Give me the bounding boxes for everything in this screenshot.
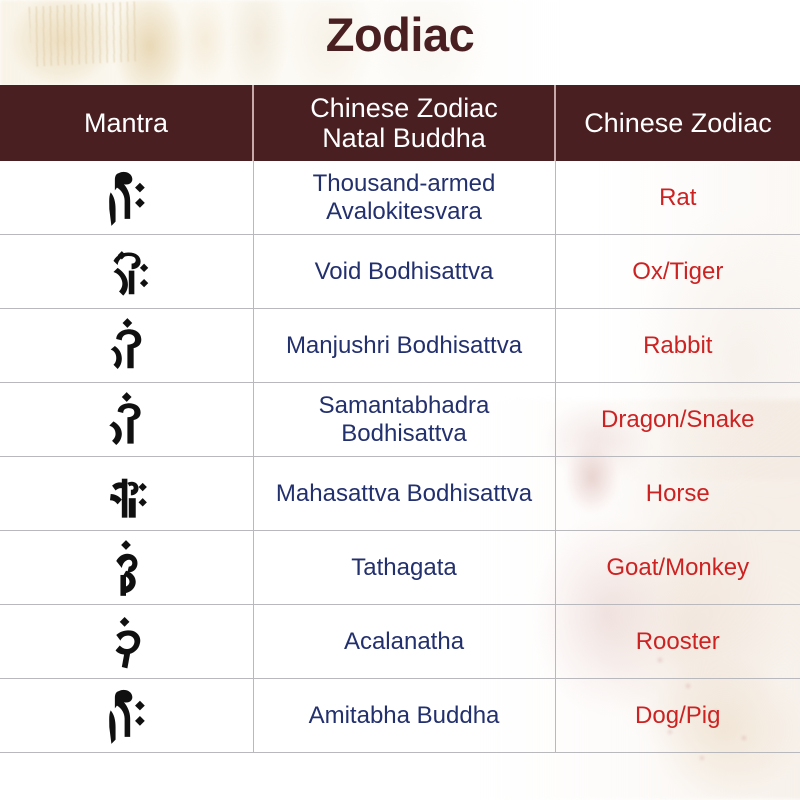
chinese-zodiac-label: Rat bbox=[659, 184, 696, 211]
column-header-chinese-zodiac: Chinese Zodiac bbox=[555, 85, 800, 161]
title-band: Zodiac bbox=[0, 0, 800, 85]
chinese-zodiac-label: Ox/Tiger bbox=[632, 258, 723, 285]
chinese-zodiac-label: Rabbit bbox=[643, 332, 712, 359]
cell-chinese-zodiac: Rat bbox=[555, 161, 800, 235]
cell-mantra bbox=[0, 457, 253, 531]
column-header-mantra-label: Mantra bbox=[84, 108, 168, 138]
siddham-am-mantra-icon bbox=[8, 388, 245, 452]
cell-natal-buddha: Amitabha Buddha bbox=[253, 679, 555, 753]
zodiac-table: Mantra Chinese Zodiac Natal Buddha Chine… bbox=[0, 85, 800, 753]
table-row: TathagataGoat/Monkey bbox=[0, 531, 800, 605]
page-title: Zodiac bbox=[0, 7, 800, 62]
natal-buddha-line1: Amitabha Buddha bbox=[309, 702, 500, 729]
column-header-chinese-zodiac-label: Chinese Zodiac bbox=[584, 108, 772, 138]
siddham-man-mantra-icon bbox=[8, 314, 245, 378]
column-header-natal-buddha-line1: Chinese Zodiac bbox=[310, 93, 498, 123]
siddham-an-mantra-icon bbox=[8, 536, 245, 600]
zodiac-infographic: Zodiac Mantra Chinese Zodiac Natal Buddh… bbox=[0, 0, 800, 800]
cell-natal-buddha: Tathagata bbox=[253, 531, 555, 605]
cell-natal-buddha: SamantabhadraBodhisattva bbox=[253, 383, 555, 457]
siddham-hrih-mantra-icon bbox=[8, 684, 245, 748]
natal-buddha-line2: Avalokitesvara bbox=[326, 198, 482, 225]
siddham-ham-mantra-icon bbox=[8, 610, 245, 674]
natal-buddha-line1: Samantabhadra bbox=[319, 392, 490, 419]
cell-chinese-zodiac: Goat/Monkey bbox=[555, 531, 800, 605]
natal-buddha-line1: Tathagata bbox=[351, 554, 456, 581]
chinese-zodiac-label: Horse bbox=[646, 480, 710, 507]
chinese-zodiac-label: Goat/Monkey bbox=[606, 554, 749, 581]
cell-chinese-zodiac: Ox/Tiger bbox=[555, 235, 800, 309]
cell-mantra bbox=[0, 679, 253, 753]
table-body: Thousand-armedAvalokitesvaraRatVoid Bodh… bbox=[0, 161, 800, 753]
natal-buddha-line1: Void Bodhisattva bbox=[315, 258, 494, 285]
cell-mantra bbox=[0, 383, 253, 457]
cell-mantra bbox=[0, 235, 253, 309]
cell-natal-buddha: Thousand-armedAvalokitesvara bbox=[253, 161, 555, 235]
chinese-zodiac-label: Dog/Pig bbox=[635, 702, 720, 729]
cell-natal-buddha: Mahasattva Bodhisattva bbox=[253, 457, 555, 531]
table-row: Amitabha BuddhaDog/Pig bbox=[0, 679, 800, 753]
cell-natal-buddha: Void Bodhisattva bbox=[253, 235, 555, 309]
cell-mantra bbox=[0, 531, 253, 605]
siddham-tram-mantra-icon bbox=[8, 240, 245, 304]
chinese-zodiac-label: Dragon/Snake bbox=[601, 406, 754, 433]
table-header: Mantra Chinese Zodiac Natal Buddha Chine… bbox=[0, 85, 800, 161]
table-header-row: Mantra Chinese Zodiac Natal Buddha Chine… bbox=[0, 85, 800, 161]
table-row: SamantabhadraBodhisattvaDragon/Snake bbox=[0, 383, 800, 457]
cell-chinese-zodiac: Dog/Pig bbox=[555, 679, 800, 753]
natal-buddha-line1: Mahasattva Bodhisattva bbox=[276, 480, 532, 507]
natal-buddha-line2: Bodhisattva bbox=[341, 420, 466, 447]
cell-mantra bbox=[0, 309, 253, 383]
cell-chinese-zodiac: Dragon/Snake bbox=[555, 383, 800, 457]
cell-mantra bbox=[0, 161, 253, 235]
column-header-mantra: Mantra bbox=[0, 85, 253, 161]
column-header-natal-buddha: Chinese Zodiac Natal Buddha bbox=[253, 85, 555, 161]
table-row: AcalanathaRooster bbox=[0, 605, 800, 679]
column-header-natal-buddha-line2: Natal Buddha bbox=[322, 123, 486, 153]
siddham-hrih-mantra-icon bbox=[8, 166, 245, 230]
cell-chinese-zodiac: Horse bbox=[555, 457, 800, 531]
natal-buddha-line1: Manjushri Bodhisattva bbox=[286, 332, 522, 359]
siddham-sa-mantra-icon bbox=[8, 462, 245, 526]
natal-buddha-line1: Acalanatha bbox=[344, 628, 464, 655]
cell-chinese-zodiac: Rooster bbox=[555, 605, 800, 679]
natal-buddha-line1: Thousand-armed bbox=[313, 170, 496, 197]
cell-mantra bbox=[0, 605, 253, 679]
table-row: Manjushri BodhisattvaRabbit bbox=[0, 309, 800, 383]
cell-chinese-zodiac: Rabbit bbox=[555, 309, 800, 383]
table-row: Mahasattva BodhisattvaHorse bbox=[0, 457, 800, 531]
table-row: Thousand-armedAvalokitesvaraRat bbox=[0, 161, 800, 235]
cell-natal-buddha: Acalanatha bbox=[253, 605, 555, 679]
chinese-zodiac-label: Rooster bbox=[636, 628, 720, 655]
cell-natal-buddha: Manjushri Bodhisattva bbox=[253, 309, 555, 383]
table-row: Void BodhisattvaOx/Tiger bbox=[0, 235, 800, 309]
